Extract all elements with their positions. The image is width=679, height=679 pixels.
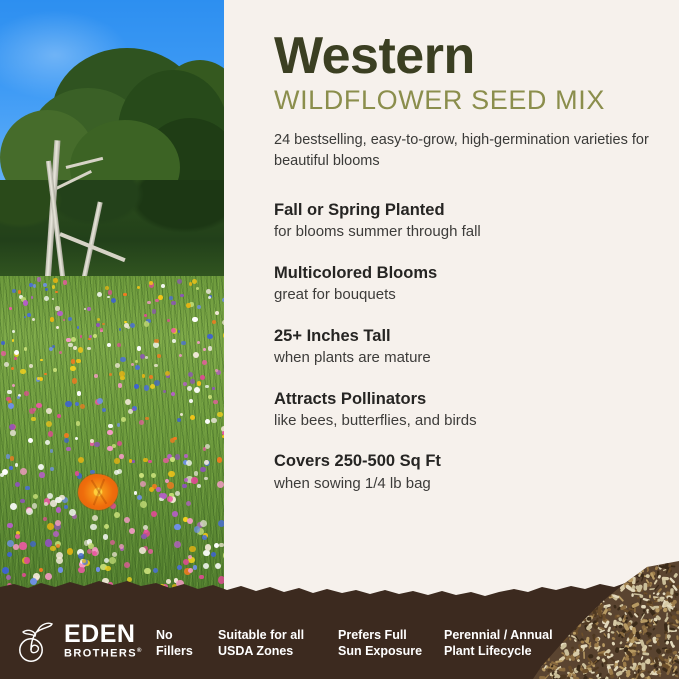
feature-title: Attracts Pollinators: [274, 389, 666, 410]
wildflower-bloom: [37, 277, 41, 281]
seedling-sprout-icon: [17, 619, 57, 663]
feature-badge: Perennial / Annual Plant Lifecycle: [444, 627, 564, 659]
wildflower-bloom: [200, 467, 205, 472]
wildflower-bloom: [152, 309, 156, 313]
wildflower-bloom: [168, 471, 175, 478]
wildflower-bloom: [77, 391, 81, 395]
feature-item: Multicolored Bloomsgreat for bouquets: [274, 263, 666, 305]
brand-subname-text: BROTHERS: [64, 648, 137, 660]
wildflower-bloom: [32, 503, 37, 508]
wildflower-bloom: [71, 359, 76, 364]
wildflower-bloom: [149, 281, 153, 285]
wildflower-bloom: [45, 288, 48, 291]
wildflower-bloom: [139, 420, 144, 425]
feature-badge: No Fillers: [156, 627, 218, 659]
background-hedgerow: [0, 180, 224, 290]
wildflower-bloom: [154, 380, 160, 386]
wildflower-bloom: [222, 431, 224, 435]
wildflower-bloom: [104, 558, 109, 563]
wildflower-bloom: [53, 368, 57, 372]
wildflower-bloom: [202, 535, 207, 540]
wildflower-bloom: [63, 280, 68, 285]
wildflower-bloom: [100, 328, 104, 332]
wildflower-bloom: [172, 511, 178, 517]
wildflower-bloom: [208, 395, 212, 399]
wildflower-bloom: [142, 374, 146, 378]
wildflower-bloom: [53, 278, 58, 283]
wildflower-bloom: [24, 391, 29, 396]
wildflower-bloom: [145, 356, 148, 359]
wildflower-bloom: [78, 567, 84, 573]
wildflower-bloom: [10, 503, 17, 510]
bottom-feature-bar: EDEN BROTHERS® No FillersSuitable for al…: [0, 600, 679, 679]
wildflower-bloom: [217, 412, 222, 417]
wildflower-bloom: [139, 473, 144, 478]
wildflower-bloom: [222, 298, 224, 302]
wildflower-bloom: [215, 311, 219, 315]
wildflower-bloom: [223, 333, 224, 337]
wildflower-bloom: [33, 494, 38, 499]
wildflower-bloom: [90, 524, 96, 530]
wildflower-bloom: [25, 486, 29, 490]
wildflower-bloom: [47, 493, 53, 499]
wildflower-bloom: [117, 423, 121, 427]
wildflower-bloom: [97, 398, 103, 404]
wildflower-bloom: [159, 493, 164, 498]
wildflower-bloom: [135, 360, 138, 363]
wildflower-bloom: [55, 291, 57, 293]
wildflower-bloom: [53, 531, 59, 537]
feature-title: Fall or Spring Planted: [274, 200, 666, 221]
wildflower-bloom: [144, 314, 147, 317]
wildflower-bloom: [29, 408, 35, 414]
feature-item: Attracts Pollinatorslike bees, butterfli…: [274, 389, 666, 431]
orange-poppy-flower: [78, 474, 118, 510]
wildflower-bloom: [52, 285, 55, 288]
wildflower-bloom: [47, 523, 54, 530]
wildflower-bloom: [9, 307, 12, 310]
wildflower-bloom: [161, 284, 165, 288]
wildflower-bloom: [102, 323, 105, 326]
wildflower-bloom: [55, 306, 59, 310]
wildflower-bloom: [36, 403, 42, 409]
wildflower-bloom: [31, 417, 35, 421]
wildflower-bloom: [139, 547, 146, 554]
wildflower-bloom: [118, 383, 122, 387]
wildflower-bloom: [183, 559, 189, 565]
wildflower-bloom: [194, 471, 199, 476]
wildflower-bloom: [223, 552, 224, 559]
wildflower-bloom: [206, 289, 211, 294]
product-subtitle: WILDFLOWER SEED MIX: [274, 86, 666, 116]
wildflower-bloom: [193, 565, 197, 569]
wildflower-bloom: [163, 458, 169, 464]
wildflower-bloom: [67, 548, 74, 555]
wildflower-bloom: [29, 364, 33, 368]
feature-list: Fall or Spring Plantedfor blooms summer …: [274, 200, 666, 494]
wildflower-bloom: [24, 347, 28, 351]
wildflower-bloom: [154, 339, 159, 344]
wildflower-bloom: [68, 317, 72, 321]
wildflower-bloom: [82, 559, 86, 563]
wildflower-bloom: [55, 497, 61, 503]
wildflower-bloom: [120, 357, 125, 362]
feature-subtitle: like bees, butterflies, and birds: [274, 411, 666, 431]
brand-logo[interactable]: EDEN BROTHERS®: [17, 619, 143, 663]
wildflower-bloom: [149, 487, 154, 492]
wildflower-bloom: [19, 542, 26, 549]
wildflower-bloom: [96, 323, 100, 327]
wildflower-bloom: [169, 296, 173, 300]
wildflower-bloom: [75, 471, 80, 476]
wildflower-bloom: [105, 566, 111, 572]
feature-item: 25+ Inches Tallwhen plants are mature: [274, 326, 666, 368]
feature-item: Covers 250-500 Sq Ftwhen sowing 1/4 lb b…: [274, 451, 666, 493]
wildflower-bloom: [143, 525, 148, 530]
wildflower-bloom: [44, 296, 49, 301]
wildflower-bloom: [114, 458, 120, 464]
wildflower-bloom: [173, 437, 177, 441]
wildflower-bloom: [46, 408, 52, 414]
wildflower-bloom: [200, 375, 205, 380]
wildflower-bloom: [20, 468, 27, 475]
wildflower-bloom: [38, 464, 44, 470]
wildflower-bloom: [196, 287, 199, 290]
wildflower-bloom: [171, 328, 176, 333]
wildflower-bloom: [12, 330, 15, 333]
wildflower-bloom: [177, 418, 181, 422]
wildflower-bloom: [109, 557, 116, 564]
wildflower-bloom: [56, 326, 59, 329]
feature-title: Multicolored Blooms: [274, 263, 666, 284]
wildflower-bloom: [18, 290, 21, 293]
wildflower-bloom: [20, 369, 26, 375]
wildflower-bloom: [12, 384, 15, 387]
wildflower-bloom: [109, 373, 112, 376]
product-infographic: Western WILDFLOWER SEED MIX 24 bestselli…: [0, 0, 679, 679]
wildflower-bloom: [28, 438, 33, 443]
wildflower-bloom: [124, 562, 130, 568]
wildflower-meadow: [0, 276, 224, 612]
wildflower-bloom: [123, 293, 127, 297]
wildflower-bloom: [56, 507, 62, 513]
wildflower-bloom: [211, 418, 216, 423]
wildflower-bloom: [186, 303, 191, 308]
wildflower-bloom: [32, 318, 35, 321]
wildflower-bloom: [24, 557, 31, 564]
feature-title: Covers 250-500 Sq Ft: [274, 451, 666, 472]
wildflower-bloom: [151, 473, 156, 478]
wildflower-bloom: [147, 301, 151, 305]
wildflower-bloom: [148, 460, 152, 464]
wildflower-bloom: [97, 318, 100, 321]
wildflower-bloom: [46, 421, 52, 427]
torn-paper-edge: [0, 578, 679, 600]
wildflower-bloom: [50, 449, 54, 453]
wildflower-bloom: [107, 446, 113, 452]
wildflower-bloom: [189, 399, 193, 403]
wildflower-bloom: [165, 371, 170, 376]
wildflower-bloom: [119, 371, 125, 377]
wildflower-bloom: [180, 294, 184, 298]
wildflower-bloom: [43, 283, 47, 287]
wildflower-bloom: [129, 459, 133, 463]
wildflower-bloom: [174, 524, 181, 531]
wildflower-bloom: [194, 387, 200, 393]
wildflower-bloom: [37, 377, 40, 380]
wildflower-bloom: [191, 477, 198, 484]
wildflower-bloom: [103, 534, 109, 540]
wildflower-bloom: [202, 360, 207, 365]
wildflower-bloom: [190, 415, 195, 420]
wildflower-bloom: [26, 508, 33, 515]
wildflower-bloom: [194, 526, 201, 533]
wildflower-bloom: [72, 378, 78, 384]
wildflower-bloom: [1, 351, 6, 356]
wildflower-bloom: [121, 417, 126, 422]
wildflower-bloom: [12, 339, 15, 342]
wildflower-bloom: [188, 372, 193, 377]
wildflower-bloom: [156, 487, 161, 492]
wildflower-bloom: [94, 442, 99, 447]
feature-badge: Suitable for all USDA Zones: [218, 627, 338, 659]
wildflower-bloom: [158, 295, 163, 300]
wildflower-bloom: [213, 400, 217, 404]
wildflower-bloom: [171, 392, 175, 396]
wildflower-bloom: [137, 495, 142, 500]
wildflower-bloom: [127, 326, 130, 329]
wildflower-bloom: [153, 568, 158, 573]
wildflower-bloom: [217, 481, 224, 488]
registered-trademark-symbol: ®: [137, 648, 143, 654]
wildflower-bloom: [177, 565, 182, 570]
feature-item: Fall or Spring Plantedfor blooms summer …: [274, 200, 666, 242]
wildflower-bloom: [214, 543, 219, 548]
wildflower-bloom: [97, 292, 102, 297]
wildflower-bloom: [45, 440, 50, 445]
page-title: Western: [274, 30, 666, 82]
wildflower-bloom: [1, 341, 5, 345]
feature-subtitle: great for bouquets: [274, 285, 666, 305]
wildflower-bloom: [94, 374, 98, 378]
wildflower-bloom: [9, 466, 13, 470]
wildflower-bloom: [45, 539, 52, 546]
feature-badge-list: No FillersSuitable for all USDA ZonesPre…: [156, 627, 564, 659]
feature-subtitle: when plants are mature: [274, 348, 666, 368]
wildflower-bloom: [144, 568, 151, 575]
feature-subtitle: for blooms summer through fall: [274, 222, 666, 242]
wildflower-bloom: [64, 505, 68, 509]
wildflower-bloom: [211, 552, 216, 557]
brand-subname: BROTHERS®: [64, 648, 143, 660]
product-description: 24 bestselling, easy-to-grow, high-germi…: [274, 130, 654, 172]
wildflower-bloom: [39, 472, 45, 478]
feature-subtitle: when sowing 1/4 lb bag: [274, 474, 666, 494]
wildflower-bloom: [222, 320, 224, 325]
wildflower-bloom: [192, 317, 198, 323]
wildflower-bloom: [10, 430, 16, 436]
wildflower-bloom: [107, 430, 113, 436]
wildflower-bloom: [124, 321, 127, 324]
wildflower-bloom: [76, 421, 81, 426]
wildflower-bloom: [184, 454, 188, 458]
wildflower-bloom: [78, 347, 84, 353]
wildflower-bloom: [175, 491, 180, 496]
wildflower-bloom: [222, 435, 224, 438]
wildflower-bloom: [144, 385, 150, 391]
wildflower-bloom: [23, 300, 28, 305]
wildflower-bloom: [188, 555, 192, 559]
wildflower-bloom: [88, 543, 94, 549]
feature-badge: Prefers Full Sun Exposure: [338, 627, 444, 659]
wildflower-bloom: [77, 326, 80, 329]
brand-name: EDEN: [64, 622, 143, 647]
wildflower-bloom: [167, 482, 174, 489]
wildflower-bloom: [48, 431, 54, 437]
wildflower-bloom: [119, 454, 124, 459]
wildflower-bloom: [129, 528, 135, 534]
wildflower-bloom: [114, 470, 119, 475]
wildflower-bloom: [218, 520, 224, 527]
wildflower-bloom: [7, 523, 12, 528]
product-info-panel: Western WILDFLOWER SEED MIX 24 bestselli…: [274, 30, 666, 514]
wildflower-bloom: [57, 414, 61, 418]
wildflower-bloom: [128, 409, 133, 414]
wildflower-meadow-photo: [0, 0, 224, 612]
brand-wordmark: EDEN BROTHERS®: [64, 622, 143, 660]
wildflower-bloom: [203, 348, 206, 351]
wildflower-bloom: [58, 567, 64, 573]
wildflower-bloom: [87, 307, 91, 311]
wildflower-bloom: [44, 373, 47, 376]
wildflower-bloom: [31, 296, 34, 299]
wildflower-bloom: [107, 343, 111, 347]
feature-title: 25+ Inches Tall: [274, 326, 666, 347]
